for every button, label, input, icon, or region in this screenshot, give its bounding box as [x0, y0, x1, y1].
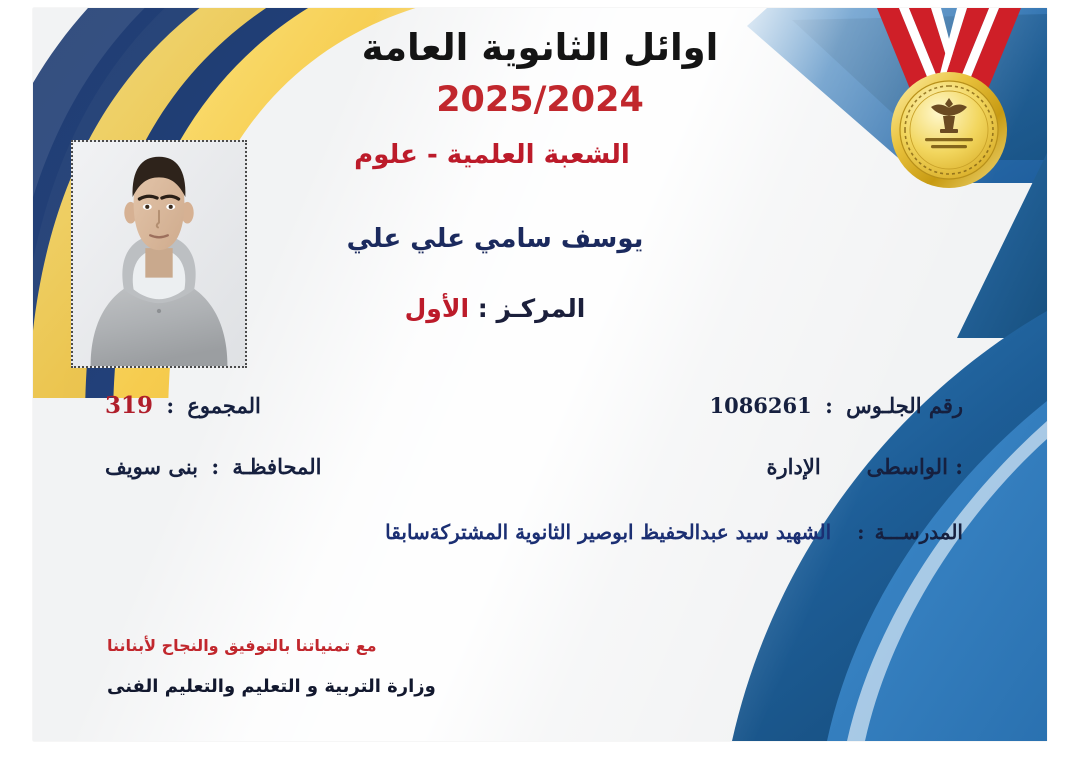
- certificate-canvas: اوائل الثانوية العامة 2025/2024 الشعبة ا…: [0, 0, 1080, 764]
- governorate-value: بنى سويف: [105, 454, 198, 479]
- academic-year: 2025/2024: [33, 80, 1047, 120]
- administration-field: : الواسطى الإدارة: [767, 454, 963, 479]
- total-field: المجموع : 319: [105, 392, 261, 419]
- section-label: الشعبة العلمية - علوم: [33, 140, 1047, 170]
- administration-separator: :: [955, 454, 963, 479]
- administration-value: الواسطى: [867, 454, 948, 479]
- decorative-sweep-bottom-right: [527, 271, 1047, 741]
- seat-number-separator: :: [819, 393, 839, 418]
- governorate-field: المحافظـة : بنى سويف: [105, 454, 321, 479]
- seat-number-value: 1086261: [709, 393, 811, 418]
- school-value: الشهيد سيد عبدالحفيظ ابوصير الثانوية الم…: [385, 520, 831, 544]
- administration-label: الإدارة: [767, 454, 821, 479]
- total-separator: :: [160, 393, 180, 418]
- school-label: المدرســـة: [875, 520, 963, 544]
- governorate-label: المحافظـة: [232, 454, 321, 479]
- governorate-and-administration-row: : الواسطى الإدارة المحافظـة : بنى سويف: [105, 454, 963, 479]
- school-field: المدرســـة : الشهيد سيد عبدالحفيظ ابوصير…: [105, 520, 963, 544]
- total-value: 319: [105, 392, 153, 419]
- footer-wish-text: مع تمنياتنا بالتوفيق والنجاح لأبناننا: [107, 636, 377, 655]
- student-portrait-photo: [71, 140, 247, 368]
- total-and-seat-row: رقم الجلـوس : 1086261 المجموع : 319: [105, 392, 963, 419]
- governorate-separator: :: [205, 454, 225, 479]
- section-label-text: الشعبة العلمية - علوم: [354, 140, 630, 170]
- rank-separator: :: [478, 294, 488, 323]
- student-name-text: يوسف سامي علي علي: [347, 224, 644, 254]
- rank-row: المركـز : الأول: [33, 294, 1047, 323]
- footer-ministry-text: وزارة التربية و التعليم والتعليم الفنى: [107, 676, 436, 697]
- student-name: يوسف سامي علي علي: [33, 224, 1047, 254]
- administration-value-group: : الواسطى: [867, 454, 963, 479]
- page-title: اوائل الثانوية العامة: [33, 26, 1047, 69]
- seat-number-field: رقم الجلـوس : 1086261: [709, 393, 963, 418]
- certificate-card: اوائل الثانوية العامة 2025/2024 الشعبة ا…: [33, 8, 1047, 741]
- school-separator: :: [831, 520, 874, 544]
- rank-label: المركـز: [496, 294, 585, 323]
- rank-value: الأول: [405, 294, 469, 323]
- seat-number-label: رقم الجلـوس: [846, 393, 963, 418]
- total-label: المجموع: [187, 393, 260, 418]
